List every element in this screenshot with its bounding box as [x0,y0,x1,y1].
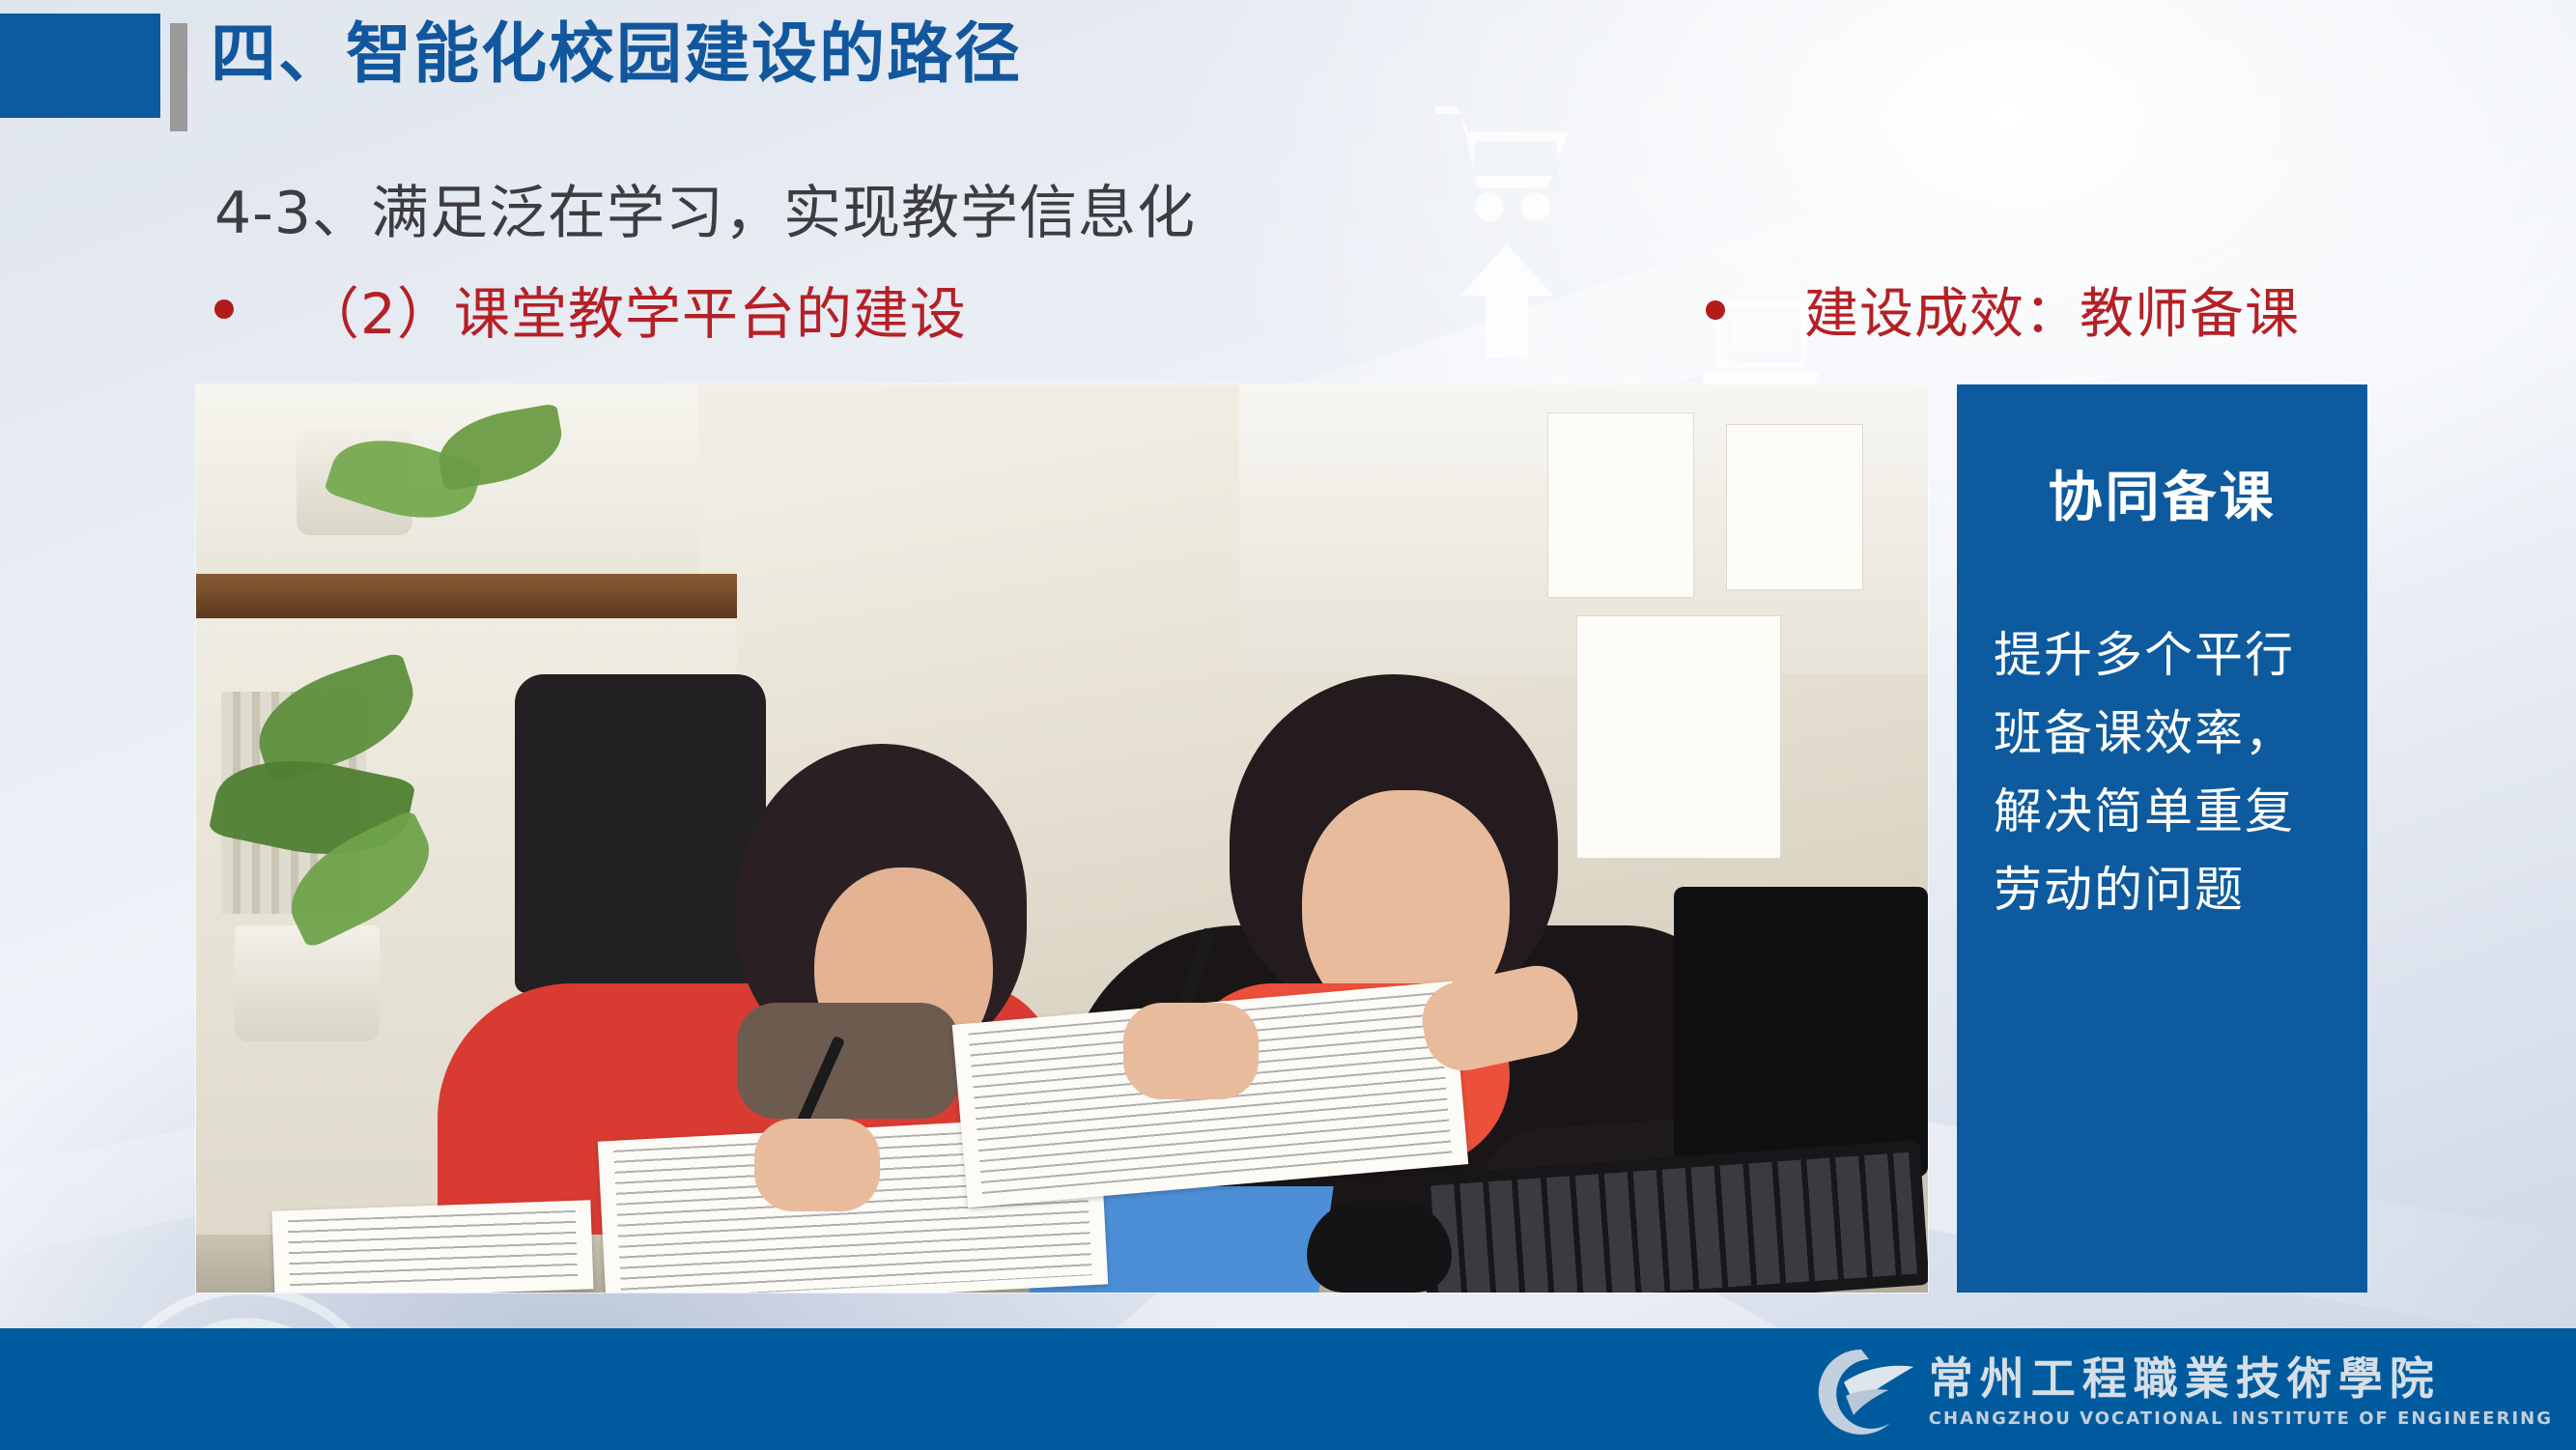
photo-keyboard-keys [1430,1152,1917,1293]
bullet-right-label: 建设成效：教师备课 [1804,270,2300,349]
header-divider-bar [170,23,187,131]
page-title: 四、智能化校园建设的路径 [211,19,1022,92]
highlight-panel: 协同备课 提升多个平行班备课效率，解决简单重复劳动的问题 [1957,384,2367,1293]
institution-logo: 常州工程職業技術學院 CHANGZHOU VOCATIONAL INSTITUT… [1807,1342,2553,1442]
photo-notebook-lines [288,1210,578,1290]
logo-text-block: 常州工程職業技術學院 CHANGZHOU VOCATIONAL INSTITUT… [1929,1355,2553,1428]
photo-monitor [1674,887,1928,1177]
logo-mark-icon [1807,1342,1915,1442]
up-arrow-icon [1460,243,1553,357]
section-subtitle: 4-3、满足泛在学习，实现教学信息化 [214,166,1196,250]
panel-title: 协同备课 [1957,454,2367,532]
photo-office-chair [515,674,766,993]
classroom-preparation-photo [196,384,1928,1293]
photo-hand-left [754,1119,880,1211]
photo-wall-paper [1548,413,1693,597]
bullet-left: （2）课堂教学平台的建设 [214,269,967,350]
panel-body-text: 提升多个平行班备课效率，解决简单重复劳动的问题 [1994,616,2338,929]
logo-name-en: CHANGZHOU VOCATIONAL INSTITUTE OF ENGINE… [1929,1408,2553,1429]
header-accent-block [0,14,160,118]
photo-hand-right [1123,1003,1259,1099]
photo-notebook-stack [271,1200,593,1293]
bullet-right: 建设成效：教师备课 [1706,270,2300,349]
bullet-left-label: （2）课堂教学平台的建设 [303,269,967,350]
logo-name-cn: 常州工程職業技術學院 [1929,1355,2553,1402]
photo-mouse [1307,1201,1452,1293]
slide-canvas: 四、智能化校园建设的路径 4-3、满足泛在学习，实现教学信息化 （2）课堂教学平… [0,0,2576,1450]
footer-bar: 常州工程職業技術學院 CHANGZHOU VOCATIONAL INSTITUT… [0,1328,2576,1450]
bullet-dot-icon [214,299,234,319]
photo-wall-paper [1727,425,1862,589]
photo-person-left-collar [737,1003,959,1119]
bullet-dot-icon [1706,300,1725,320]
shopping-cart-icon [1431,100,1574,226]
photo-wall-paper [1577,616,1780,858]
photo-windowsill [196,574,737,618]
